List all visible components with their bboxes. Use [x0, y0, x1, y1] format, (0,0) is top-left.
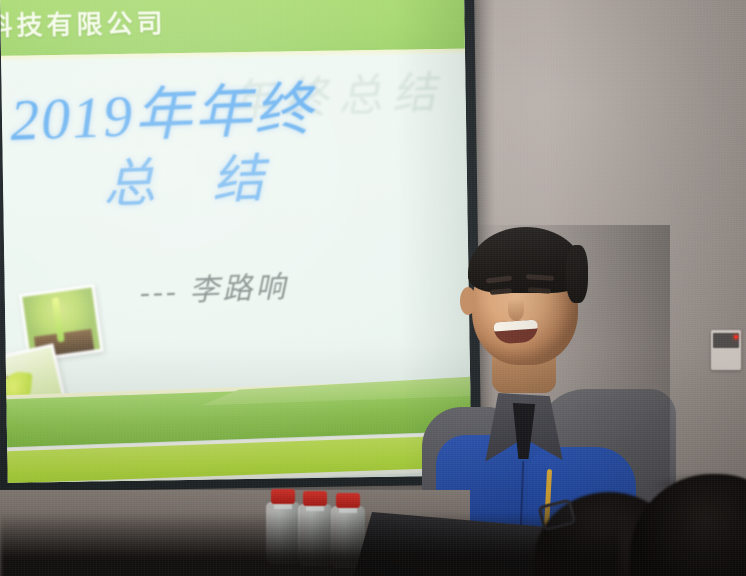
ac-control-panel-icon[interactable] — [711, 330, 741, 370]
bottle-cap-2 — [303, 491, 327, 506]
speaker-nose — [508, 299, 524, 321]
bottle-cap-3 — [336, 493, 360, 508]
slide-presenter-name: --- 李路响 — [139, 262, 289, 311]
slide-title-line-2: 总 结 — [102, 136, 288, 218]
slide-company-name: 科技有限公司 — [0, 3, 167, 43]
speaker-hair — [468, 227, 584, 293]
projection-screen-frame: 科技有限公司 年终总结 2019年年终 总 结 --- 李路响 — [0, 0, 482, 492]
speaker-ear — [460, 287, 476, 315]
projection-screen-surface: 科技有限公司 年终总结 2019年年终 总 结 --- 李路响 — [0, 0, 472, 483]
foreground-shadow — [0, 512, 620, 576]
bottle-cap-1 — [271, 489, 295, 504]
powerpoint-slide: 科技有限公司 年终总结 2019年年终 总 结 --- 李路响 — [0, 0, 472, 483]
presentation-photo-scene: 科技有限公司 年终总结 2019年年终 总 结 --- 李路响 — [0, 0, 746, 576]
panel-led-indicator — [734, 335, 738, 339]
